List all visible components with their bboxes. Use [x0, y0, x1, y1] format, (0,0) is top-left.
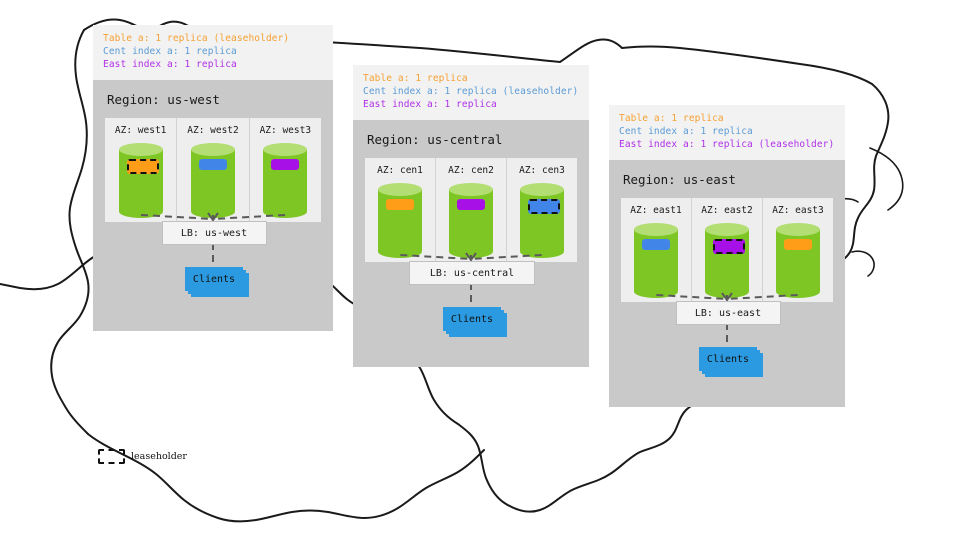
clients-us-central[interactable]: Clients [443, 307, 507, 337]
leaseholder-dashed-icon [98, 449, 125, 464]
clients-us-west[interactable]: Clients [185, 267, 249, 297]
load-balancer-us-west[interactable]: LB: us-west [162, 221, 267, 245]
clients-us-east[interactable]: Clients [699, 347, 763, 377]
clients-label: Clients [699, 347, 757, 371]
legend: leaseholder [98, 449, 187, 464]
legend-label: leaseholder [131, 451, 187, 462]
clients-label: Clients [443, 307, 501, 331]
clients-label: Clients [185, 267, 243, 291]
load-balancer-us-central[interactable]: LB: us-central [409, 261, 535, 285]
load-balancer-us-east[interactable]: LB: us-east [676, 301, 781, 325]
diagram-canvas: leaseholder Table a: 1 replica (leasehol… [0, 0, 960, 540]
